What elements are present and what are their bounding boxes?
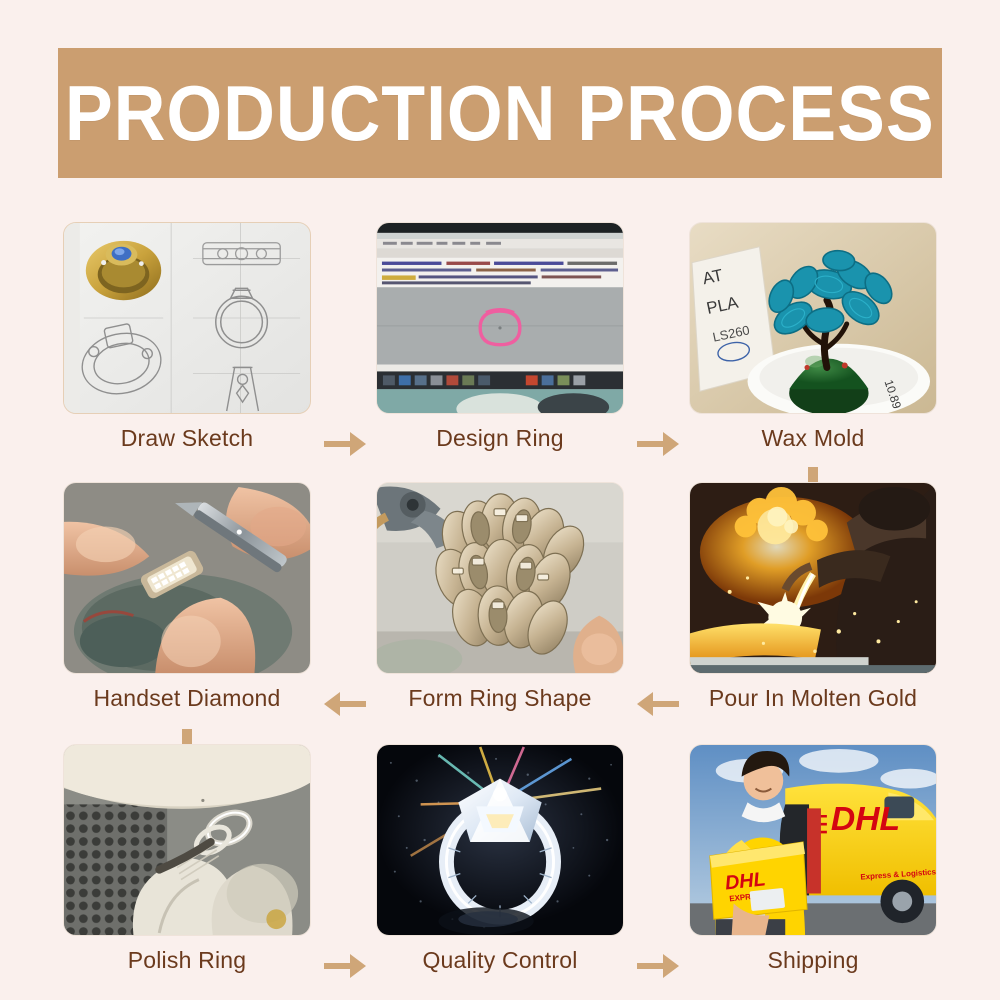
process-step-pour-in-molten-gold[interactable]: Pour In Molten Gold bbox=[689, 482, 937, 712]
process-row-1: Draw Sketch bbox=[0, 222, 1000, 482]
image-form-ring-shape bbox=[376, 482, 624, 674]
svg-text:DHL: DHL bbox=[831, 801, 900, 838]
image-quality-control bbox=[376, 744, 624, 936]
arrow-right-icon-4 bbox=[635, 949, 681, 983]
image-handset-diamond bbox=[63, 482, 311, 674]
process-step-design-ring[interactable]: Design Ring bbox=[376, 222, 624, 452]
process-step-draw-sketch[interactable]: Draw Sketch bbox=[63, 222, 311, 452]
process-step-shipping[interactable]: DHL Express & Logistics bbox=[689, 744, 937, 974]
process-step-handset-diamond[interactable]: Handset Diamond bbox=[63, 482, 311, 712]
image-polish-ring bbox=[63, 744, 311, 936]
step-label-pour-in-molten-gold: Pour In Molten Gold bbox=[689, 685, 937, 712]
step-label-handset-diamond: Handset Diamond bbox=[63, 685, 311, 712]
step-label-form-ring-shape: Form Ring Shape bbox=[376, 685, 624, 712]
arrow-left-icon-1 bbox=[322, 687, 368, 721]
header-banner: PRODUCTION PROCESS bbox=[58, 48, 942, 178]
process-row-3: Polish Ring bbox=[0, 744, 1000, 994]
process-step-wax-mold[interactable]: AT PLA LS260 10.89 bbox=[689, 222, 937, 452]
process-row-2: Handset Diamond bbox=[0, 482, 1000, 744]
process-step-form-ring-shape[interactable]: Form Ring Shape bbox=[376, 482, 624, 712]
step-label-quality-control: Quality Control bbox=[376, 947, 624, 974]
step-label-polish-ring: Polish Ring bbox=[63, 947, 311, 974]
arrow-right-icon-2 bbox=[635, 427, 681, 461]
arrow-right-icon-1 bbox=[322, 427, 368, 461]
step-label-design-ring: Design Ring bbox=[376, 425, 624, 452]
image-shipping: DHL Express & Logistics bbox=[689, 744, 937, 936]
image-wax-mold: AT PLA LS260 10.89 bbox=[689, 222, 937, 414]
step-label-draw-sketch: Draw Sketch bbox=[63, 425, 311, 452]
image-draw-sketch bbox=[63, 222, 311, 414]
arrow-right-icon-3 bbox=[322, 949, 368, 983]
process-step-quality-control[interactable]: Quality Control bbox=[376, 744, 624, 974]
arrow-left-icon-2 bbox=[635, 687, 681, 721]
image-design-ring bbox=[376, 222, 624, 414]
page-title: PRODUCTION PROCESS bbox=[65, 68, 935, 159]
image-pour-in-molten-gold bbox=[689, 482, 937, 674]
step-label-wax-mold: Wax Mold bbox=[689, 425, 937, 452]
process-grid: Draw Sketch bbox=[0, 222, 1000, 994]
process-step-polish-ring[interactable]: Polish Ring bbox=[63, 744, 311, 974]
step-label-shipping: Shipping bbox=[689, 947, 937, 974]
production-process-infographic: PRODUCTION PROCESS bbox=[0, 0, 1000, 1000]
